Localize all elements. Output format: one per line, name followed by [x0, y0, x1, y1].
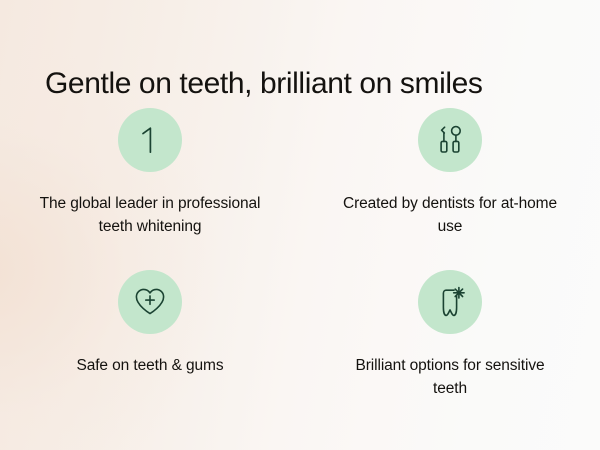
benefits-grid: The global leader in professional teeth … — [0, 108, 600, 400]
benefit-icon-circle-4 — [418, 270, 482, 334]
benefit-icon-circle-3 — [118, 270, 182, 334]
benefit-card-1: The global leader in professional teeth … — [0, 108, 300, 238]
benefit-text-1: The global leader in professional teeth … — [33, 192, 268, 238]
benefit-text-4: Brilliant options for sensitive teeth — [338, 354, 563, 400]
heart-plus-icon — [133, 286, 167, 318]
benefit-icon-circle-2 — [418, 108, 482, 172]
tooth-sparkle-icon — [433, 286, 467, 319]
benefits-panel: Gentle on teeth, brilliant on smiles The… — [0, 0, 600, 450]
page-title: Gentle on teeth, brilliant on smiles — [45, 65, 575, 103]
benefit-card-3: Safe on teeth & gums — [0, 270, 300, 400]
benefit-card-2: Created by dentists for at-home use — [300, 108, 600, 238]
number-one-icon — [135, 124, 165, 156]
dental-tools-icon — [434, 124, 466, 156]
benefit-text-2: Created by dentists for at-home use — [338, 192, 563, 238]
benefit-card-4: Brilliant options for sensitive teeth — [300, 270, 600, 400]
benefit-icon-circle-1 — [118, 108, 182, 172]
benefit-text-3: Safe on teeth & gums — [76, 354, 223, 377]
